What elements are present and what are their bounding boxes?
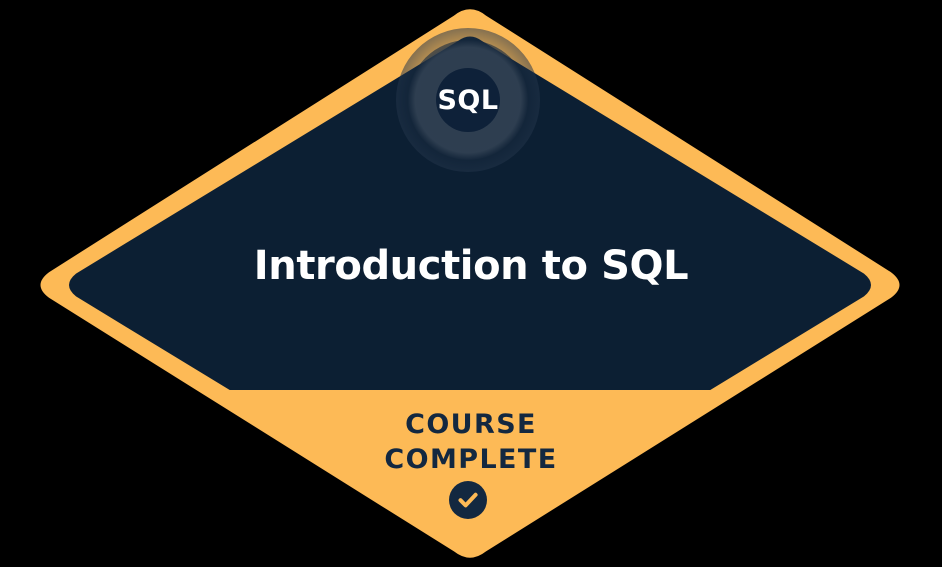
- sql-medallion-glow: [396, 28, 540, 172]
- course-completion-badge: SQL Introduction to SQL COURSE COMPLETE: [0, 0, 942, 567]
- badge-diamond-shape: [0, 0, 942, 567]
